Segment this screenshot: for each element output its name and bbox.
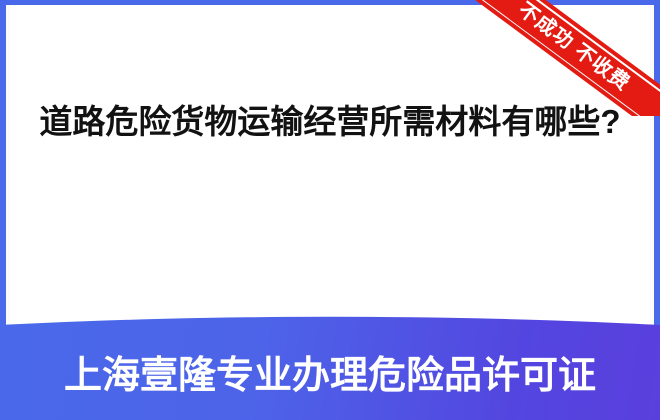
ribbon-label: 不成功 不收费: [515, 0, 633, 94]
corner-ribbon: 不成功 不收费: [474, 0, 660, 116]
frame-border-left: [0, 0, 6, 340]
footer-banner: 上海壹隆专业办理危险品许可证: [0, 300, 660, 420]
poster-canvas: 道路危险货物运输经营所需材料有哪些? 不成功 不收费 上海壹隆专业办理危险品许可…: [0, 0, 660, 420]
footer-label: 上海壹隆专业办理危险品许可证: [0, 300, 660, 420]
frame-inner-edge-left: [6, 5, 10, 335]
ribbon-band: 不成功 不收费: [474, 0, 660, 116]
